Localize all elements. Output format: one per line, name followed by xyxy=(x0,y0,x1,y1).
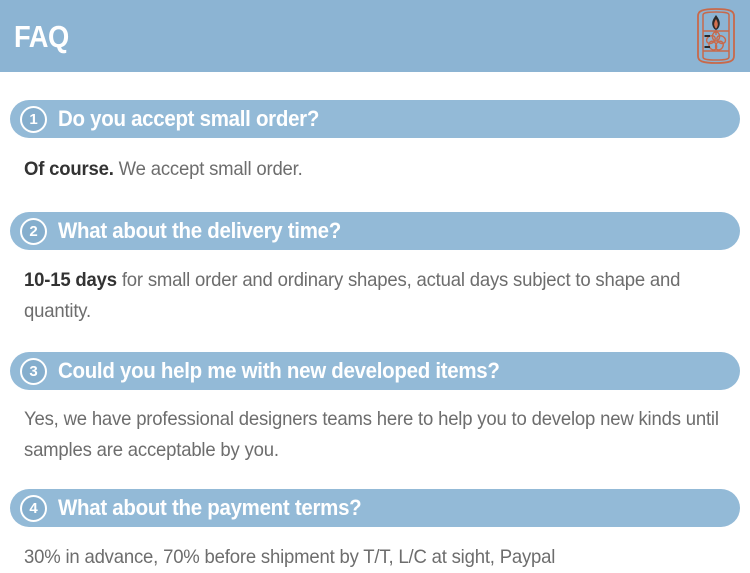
faq-question-bar[interactable]: 2 What about the delivery time? xyxy=(10,212,740,250)
candle-jar-flower-icon xyxy=(693,7,739,65)
faq-number-badge: 1 xyxy=(20,106,47,133)
faq-item: 3 Could you help me with new developed i… xyxy=(0,352,750,466)
faq-question-text: Could you help me with new developed ite… xyxy=(58,358,500,384)
faq-answer-text: Of course. We accept small order. xyxy=(24,154,727,185)
faq-answer-text: Yes, we have professional designers team… xyxy=(24,404,727,466)
page-title: FAQ xyxy=(14,20,69,54)
faq-answer-text: 10-15 days for small order and ordinary … xyxy=(24,265,727,327)
faq-answer-rest: 30% in advance, 70% before shipment by T… xyxy=(24,546,555,568)
faq-page: FAQ xyxy=(0,0,750,566)
faq-answer-rest: We accept small order. xyxy=(114,158,303,180)
faq-question-bar[interactable]: 1 Do you accept small order? xyxy=(10,100,740,138)
faq-question-text: What about the payment terms? xyxy=(58,495,361,521)
faq-answer-rest: for small order and ordinary shapes, act… xyxy=(24,269,680,322)
page-header: FAQ xyxy=(0,0,750,72)
faq-question-bar[interactable]: 4 What about the payment terms? xyxy=(10,489,740,527)
faq-question-text: What about the delivery time? xyxy=(58,218,341,244)
faq-item: 2 What about the delivery time? 10-15 da… xyxy=(0,212,750,327)
faq-number-badge: 3 xyxy=(20,358,47,385)
faq-answer-lead: Of course. xyxy=(24,158,114,180)
faq-number-badge: 2 xyxy=(20,218,47,245)
faq-answer-rest: Yes, we have professional designers team… xyxy=(24,408,719,461)
faq-list: 1 Do you accept small order? Of course. … xyxy=(0,72,750,573)
faq-question-text: Do you accept small order? xyxy=(58,106,319,132)
faq-number-badge: 4 xyxy=(20,495,47,522)
faq-item: 4 What about the payment terms? 30% in a… xyxy=(0,489,750,573)
faq-question-bar[interactable]: 3 Could you help me with new developed i… xyxy=(10,352,740,390)
faq-answer-text: 30% in advance, 70% before shipment by T… xyxy=(24,542,727,573)
faq-answer-lead: 10-15 days xyxy=(24,269,117,291)
faq-item: 1 Do you accept small order? Of course. … xyxy=(0,100,750,185)
